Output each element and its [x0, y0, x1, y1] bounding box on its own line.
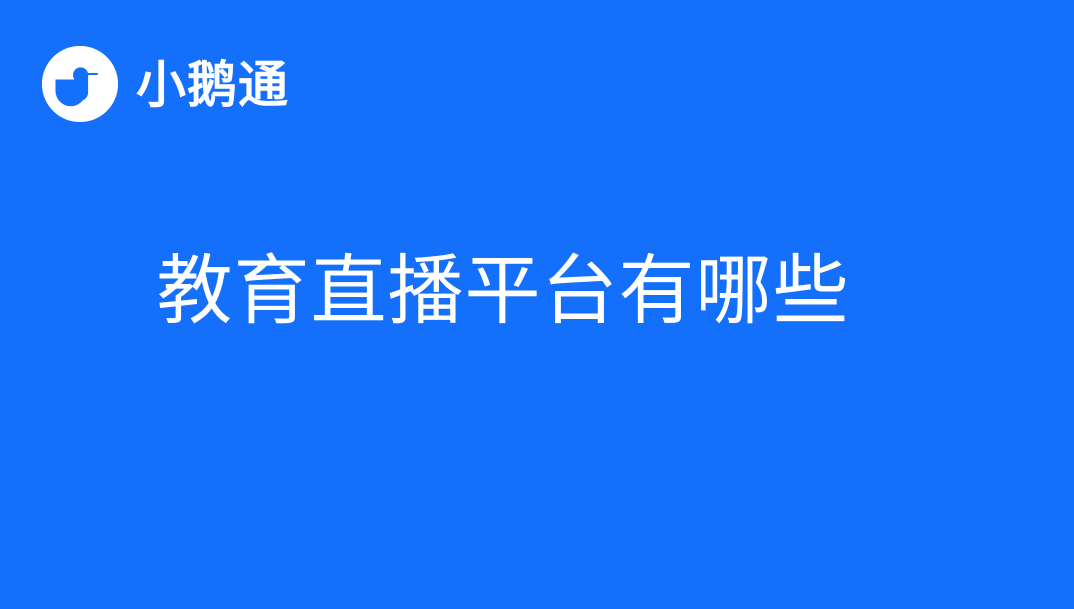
goose-logo-icon [42, 46, 118, 122]
promo-slide: 小鹅通 教育直播平台有哪些 [0, 0, 1074, 609]
brand-wordmark: 小鹅通 [136, 60, 289, 110]
page-title: 教育直播平台有哪些 [0, 252, 1074, 333]
brand-lockup: 小鹅通 [42, 46, 289, 122]
